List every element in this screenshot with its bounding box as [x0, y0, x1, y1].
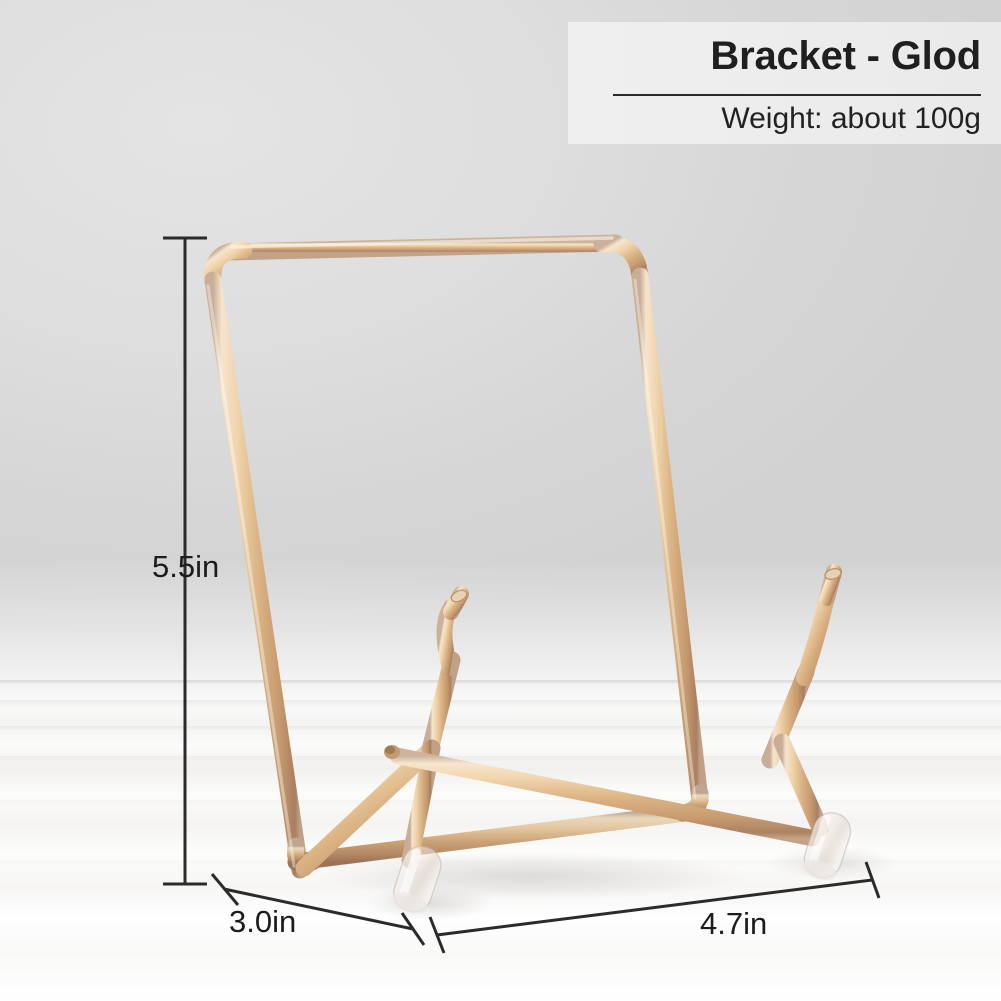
- depth-dimension-tick-right: [402, 913, 424, 945]
- dimension-annotations: [0, 0, 1001, 1001]
- width-dimension-line: [437, 880, 872, 935]
- product-title: Bracket - Glod: [568, 36, 981, 76]
- depth-dimension-tick-left: [212, 874, 238, 905]
- depth-dimension-label: 3.0in: [229, 906, 296, 937]
- height-dimension-label: 5.5in: [152, 551, 219, 582]
- width-dimension-label: 4.7in: [700, 908, 767, 939]
- product-weight-text: Weight: about 100g: [568, 104, 981, 134]
- title-divider-rule: [613, 94, 981, 96]
- product-image-canvas: 5.5in 3.0in 4.7in Bracket - Glod Weight:…: [0, 0, 1001, 1001]
